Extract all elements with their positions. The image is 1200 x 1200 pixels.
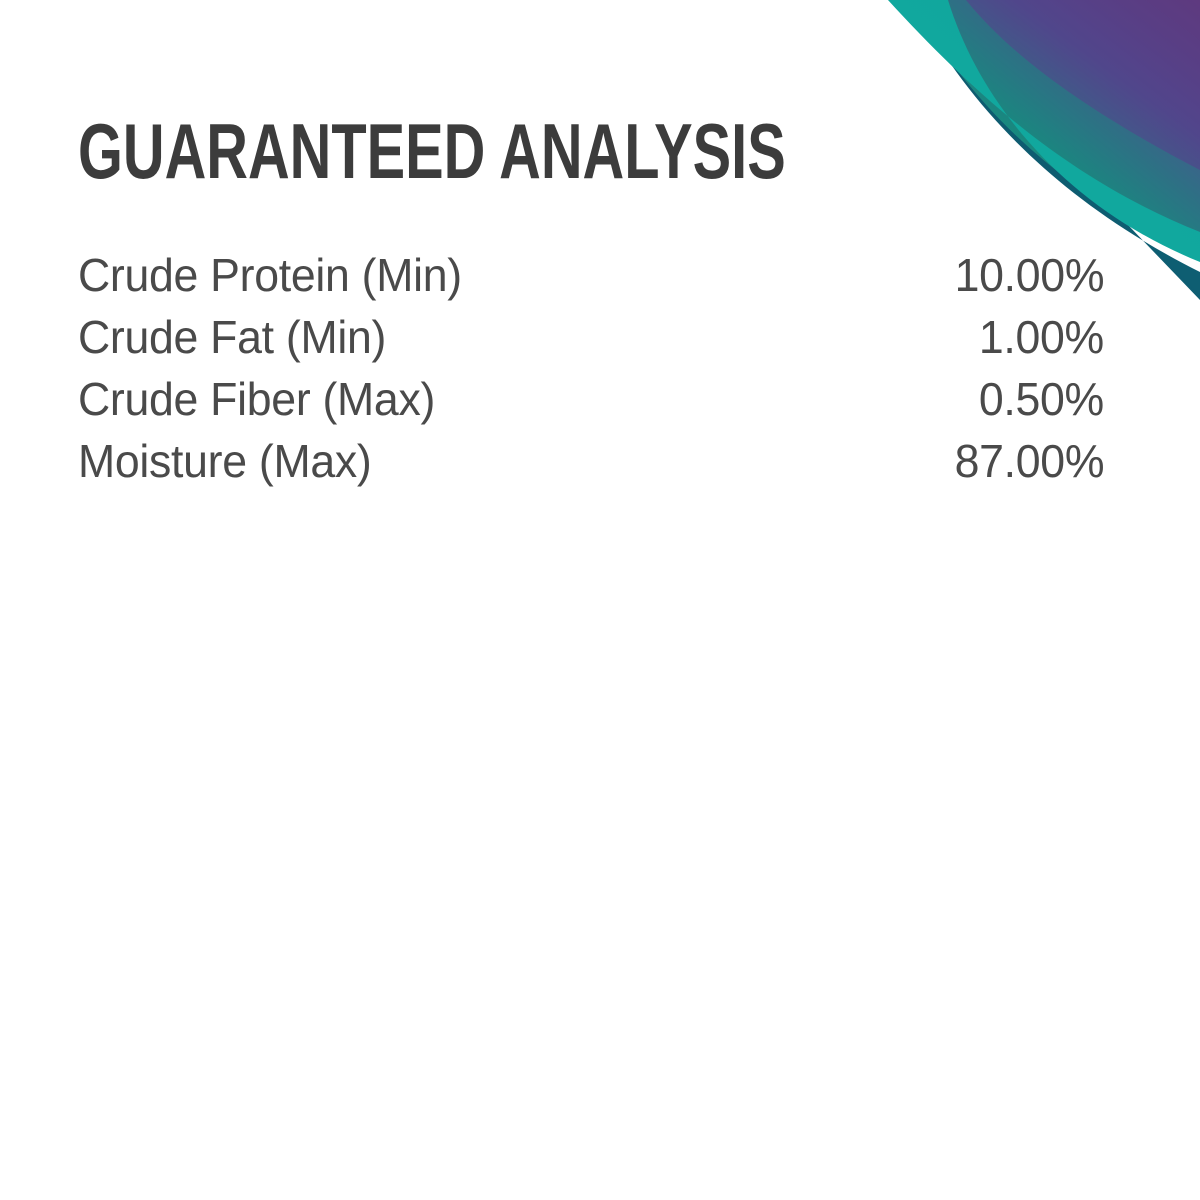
nutrient-value: 1.00%	[979, 306, 1104, 368]
guaranteed-analysis-table: Crude Protein (Min) 10.00% Crude Fat (Mi…	[78, 244, 1104, 492]
page-title-block: GUARANTEED ANALYSIS	[78, 112, 1034, 190]
nutrient-label: Crude Protein (Min)	[78, 244, 462, 306]
nutrient-value: 87.00%	[954, 430, 1104, 492]
label-panel: GUARANTEED ANALYSIS Crude Protein (Min) …	[0, 0, 1200, 1200]
page-title: GUARANTEED ANALYSIS	[78, 112, 786, 190]
nutrient-label: Crude Fat (Min)	[78, 306, 386, 368]
table-row: Crude Fat (Min) 1.00%	[78, 306, 1104, 368]
table-row: Crude Protein (Min) 10.00%	[78, 244, 1104, 306]
nutrient-label: Crude Fiber (Max)	[78, 368, 435, 430]
table-row: Moisture (Max) 87.00%	[78, 430, 1104, 492]
nutrient-label: Moisture (Max)	[78, 430, 371, 492]
nutrient-value: 10.00%	[954, 244, 1104, 306]
nutrient-value: 0.50%	[979, 368, 1104, 430]
table-row: Crude Fiber (Max) 0.50%	[78, 368, 1104, 430]
